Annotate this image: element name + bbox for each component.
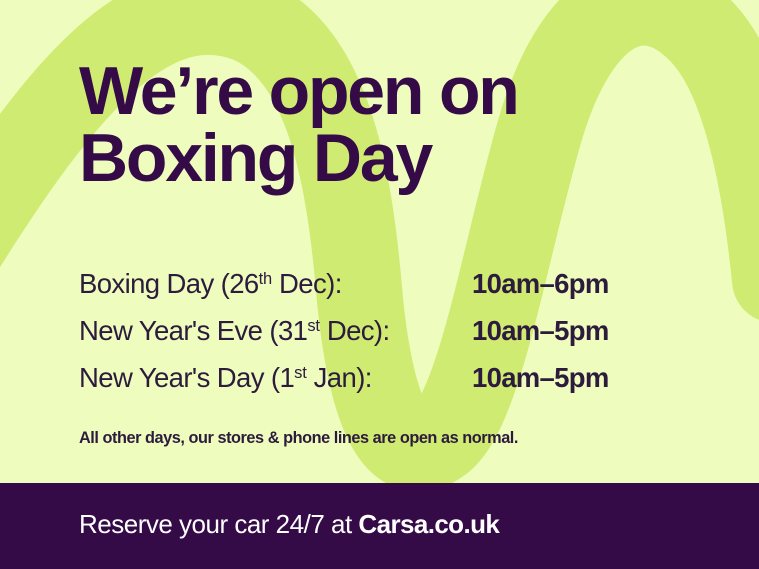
schedule-time-new-years-day: 10am–5pm	[472, 362, 679, 409]
schedule-label-prefix: Boxing Day (26	[79, 268, 259, 299]
table-row: Boxing Day (26th Dec): 10am–6pm	[79, 268, 679, 315]
schedule-label-prefix: New Year's Day (1	[79, 362, 294, 393]
promotional-banner: We’re open on Boxing Day Boxing Day (26t…	[0, 0, 759, 569]
table-row: New Year's Eve (31st Dec): 10am–5pm	[79, 315, 679, 362]
opening-hours-table: Boxing Day (26th Dec): 10am–6pm New Year…	[79, 268, 679, 409]
call-to-action-bar: Reserve your car 24/7 at Carsa.co.uk	[0, 483, 759, 569]
schedule-label-boxing-day: Boxing Day (26th Dec):	[79, 268, 472, 315]
schedule-label-new-years-eve: New Year's Eve (31st Dec):	[79, 315, 472, 362]
schedule-time-boxing-day: 10am–6pm	[472, 268, 679, 315]
schedule-time-new-years-eve: 10am–5pm	[472, 315, 679, 362]
schedule-label-suffix: Jan):	[307, 362, 372, 393]
schedule-label-new-years-day: New Year's Day (1st Jan):	[79, 362, 472, 409]
banner-content: We’re open on Boxing Day Boxing Day (26t…	[0, 0, 759, 569]
ordinal-suffix: st	[294, 364, 306, 382]
ordinal-suffix: st	[307, 317, 319, 335]
fineprint-note: All other days, our stores & phone lines…	[79, 429, 518, 448]
cta-lead-text: Reserve your car 24/7 at	[79, 509, 358, 539]
table-row: New Year's Day (1st Jan): 10am–5pm	[79, 362, 679, 409]
schedule-label-prefix: New Year's Eve (31	[79, 315, 307, 346]
page-title: We’re open on Boxing Day	[79, 58, 699, 191]
brand-website: Carsa.co.uk	[358, 509, 499, 539]
schedule-label-suffix: Dec):	[320, 315, 390, 346]
schedule-label-suffix: Dec):	[272, 268, 342, 299]
ordinal-suffix: th	[259, 270, 272, 288]
cta-message: Reserve your car 24/7 at Carsa.co.uk	[79, 509, 499, 540]
